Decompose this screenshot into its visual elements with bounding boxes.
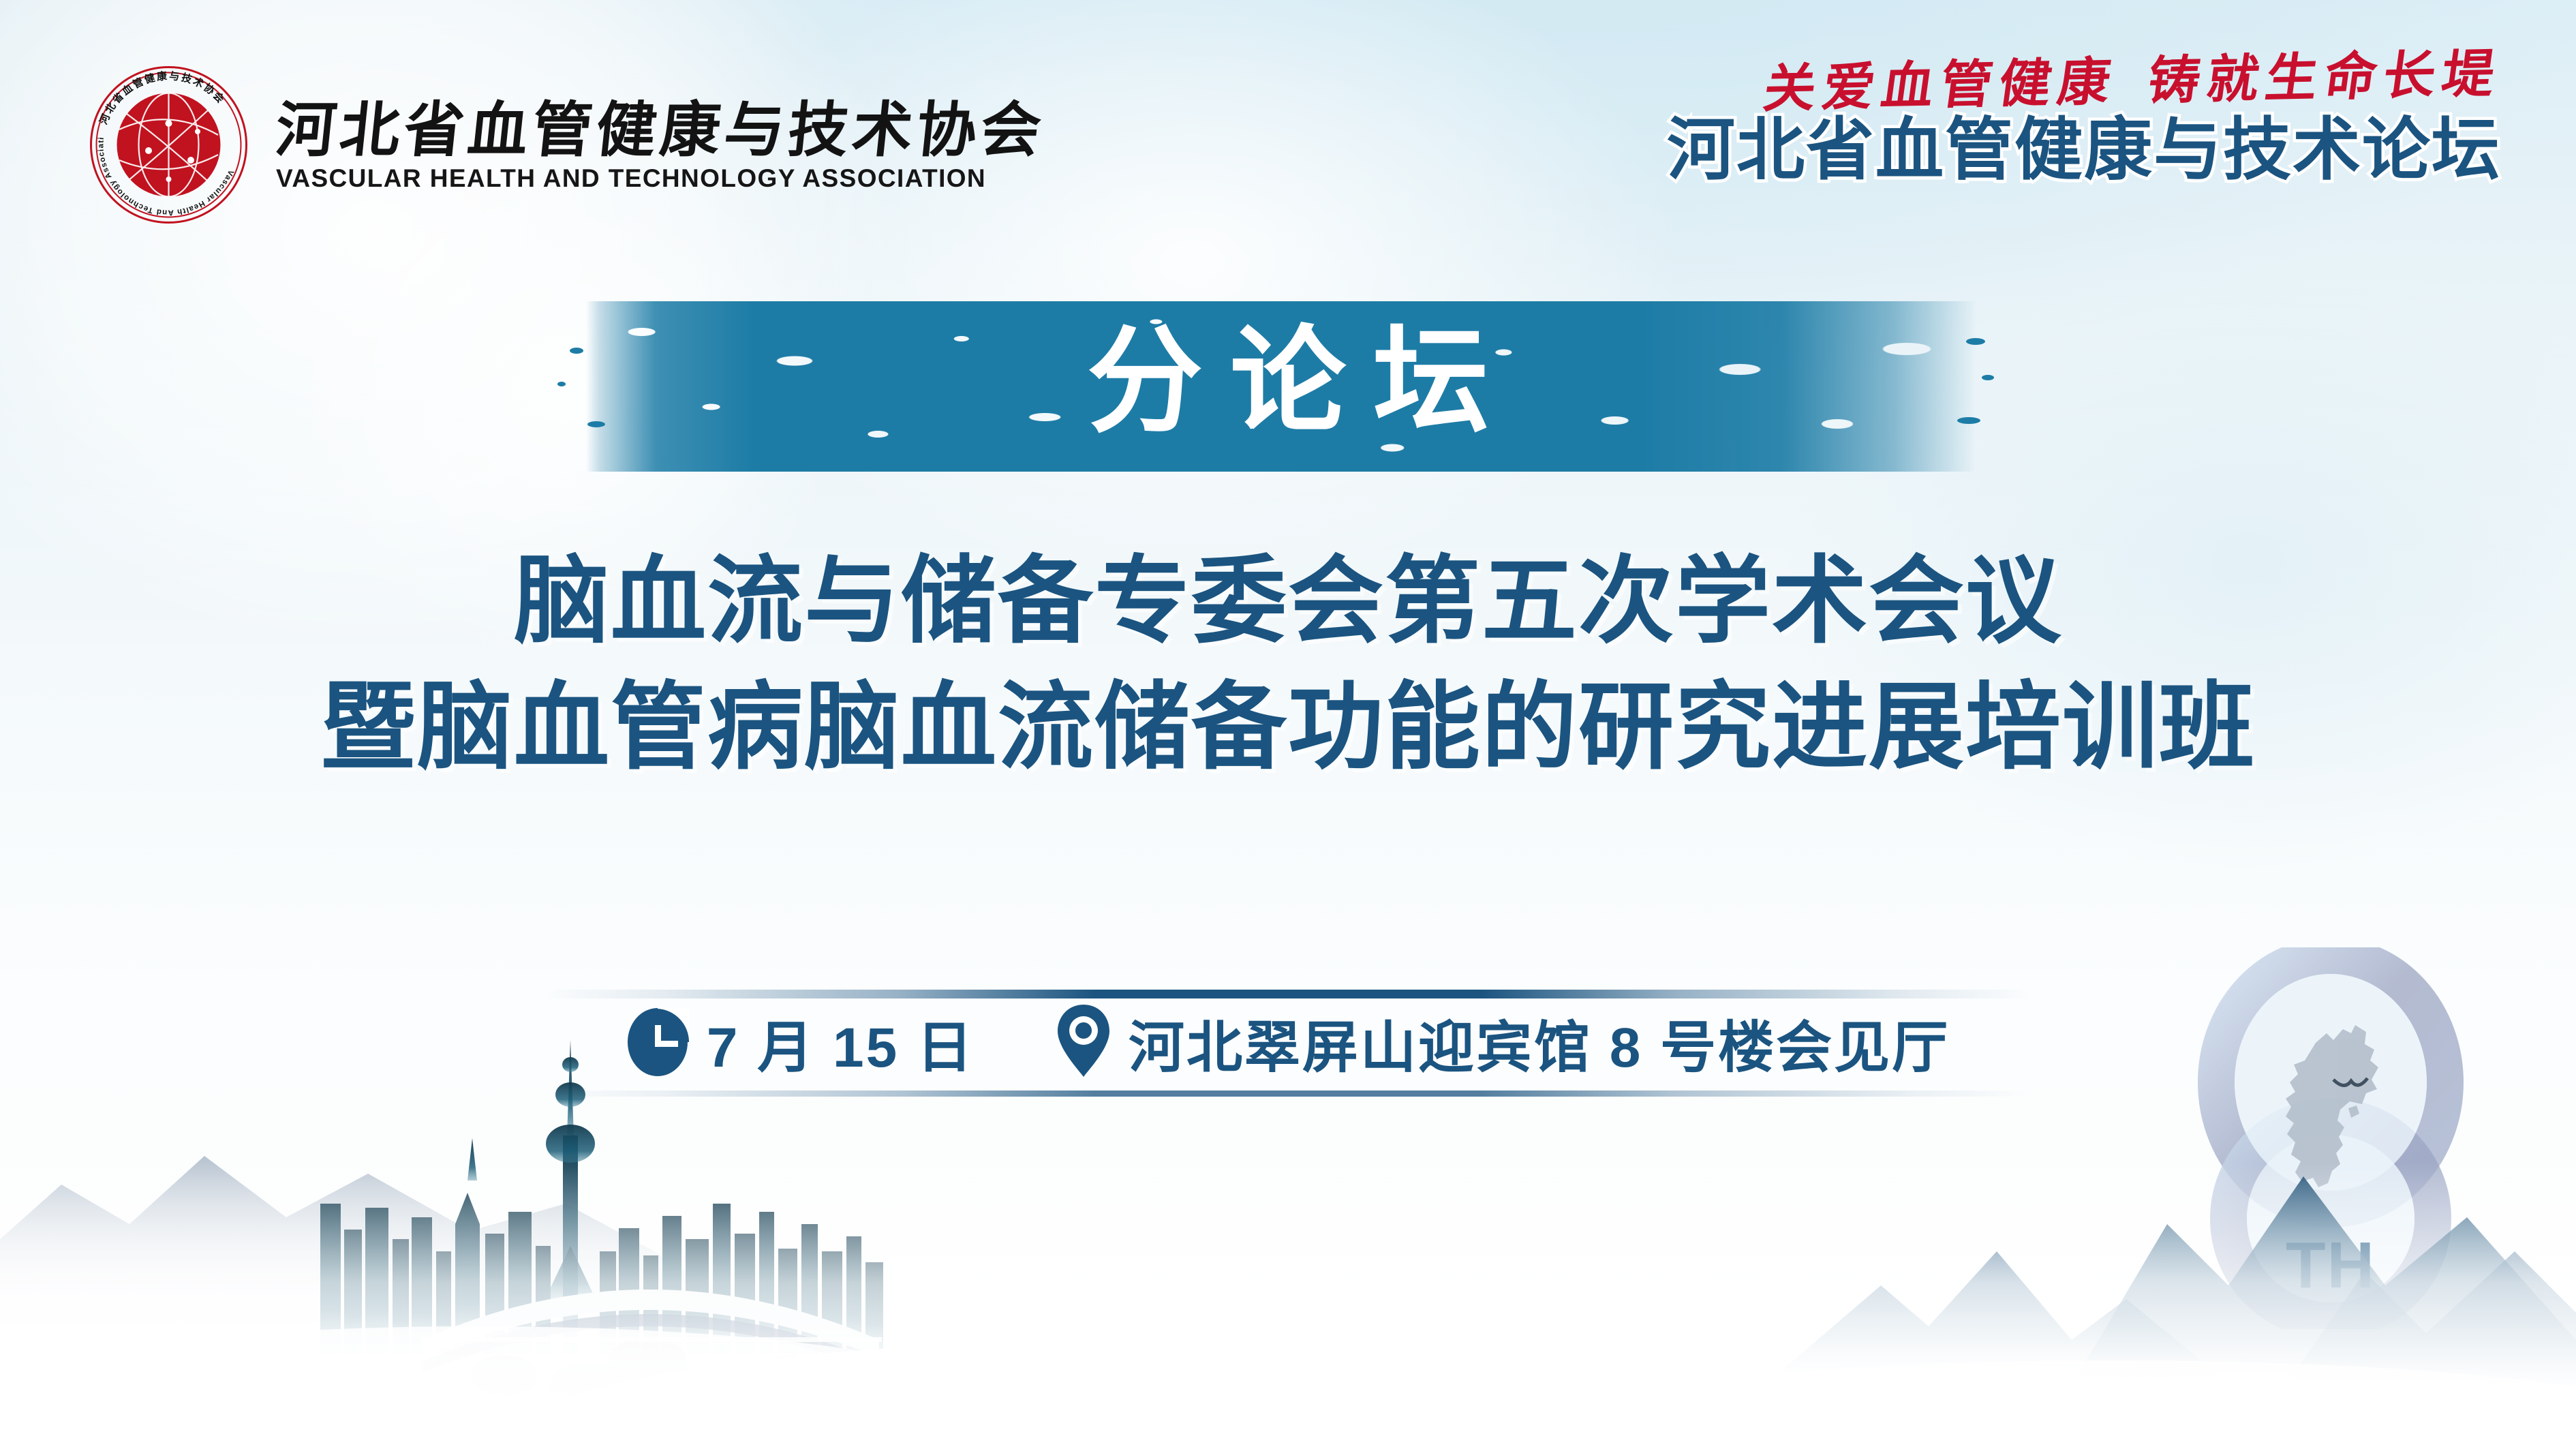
meta-location: 河北翠屏山迎宾馆 8 号楼会见厅 <box>1056 1002 1950 1083</box>
conference-title: 脑血流与储备专委会第五次学术会议 暨脑血管病脑血流储备功能的研究进展培训班 <box>0 538 2576 791</box>
vascular-association-emblem-icon: 河北省血管健康与技术协会 Vascular Health And Technol… <box>89 65 249 225</box>
meta-divider-top <box>545 990 2031 998</box>
forum-slogan: 关爱血管健康铸就生命长堤 <box>1661 48 2504 117</box>
association-name-en: VASCULAR HEALTH AND TECHNOLOGY ASSOCIATI… <box>276 166 1045 191</box>
meta-date-text: 7 月 15 日 <box>707 1002 975 1083</box>
mist-layer <box>0 1326 2576 1449</box>
conference-title-line-1: 脑血流与储备专委会第五次学术会议 <box>0 538 2576 665</box>
edition-badge: 8 TH <box>2188 947 2474 1329</box>
edition-badge-suffix: TH <box>2188 1228 2474 1303</box>
forum-branding-block: 关爱血管健康铸就生命长堤 河北省血管健康与技术论坛 <box>1667 48 2501 186</box>
trees <box>549 1363 726 1414</box>
ink-wash-hills-left <box>0 1156 709 1354</box>
sub-forum-banner-label: 分论坛 <box>545 309 2031 455</box>
association-text: 河北省血管健康与技术协会 VASCULAR HEALTH AND TECHNOL… <box>276 99 1045 191</box>
forum-title: 河北省血管健康与技术论坛 <box>1667 115 2501 186</box>
poster-root: 河北省血管健康与技术协会 Vascular Health And Technol… <box>0 0 2576 1449</box>
forum-slogan-part2: 铸就生命长堤 <box>2144 43 2505 111</box>
meta-location-text: 河北翠屏山迎宾馆 8 号楼会见厅 <box>1129 1002 1950 1083</box>
arch-bridge-icon <box>421 1290 882 1396</box>
sub-forum-banner: 分论坛 <box>545 273 2031 498</box>
meta-divider-bottom <box>545 1090 2031 1097</box>
forum-slogan-part1: 关爱血管健康 <box>1760 51 2121 119</box>
ink-wash-cityscape <box>320 1040 883 1354</box>
association-name-cn: 河北省血管健康与技术协会 <box>273 99 1048 162</box>
association-logo-block: 河北省血管健康与技术协会 Vascular Health And Technol… <box>89 65 1045 225</box>
location-pin-icon <box>1056 1003 1111 1082</box>
clock-icon <box>626 1005 689 1080</box>
conference-title-line-2: 暨脑血管病脑血流储备功能的研究进展培训班 <box>0 665 2576 791</box>
meta-date: 7 月 15 日 <box>626 1002 975 1083</box>
